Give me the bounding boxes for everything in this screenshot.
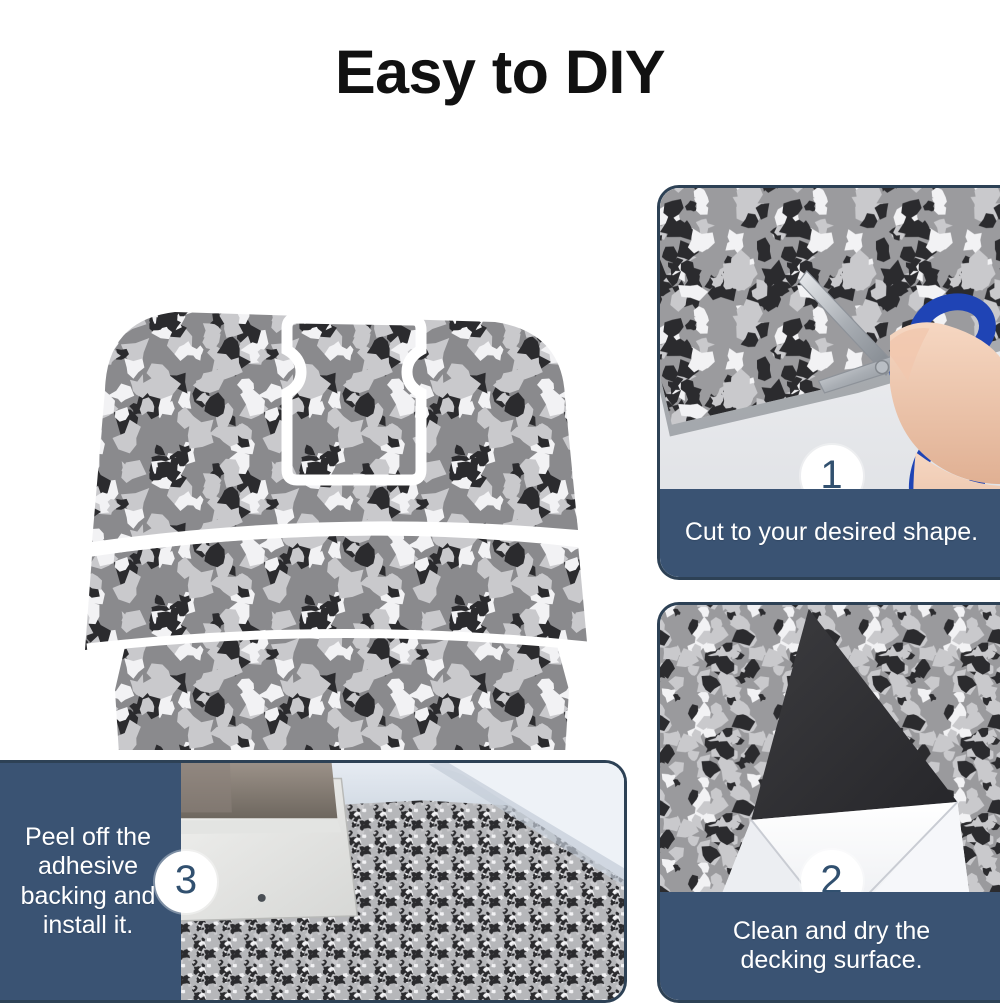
boat-seat-cushion [174,763,337,818]
step-2-caption-line-2: decking surface. [740,946,922,974]
step-3-caption-line-1: Peel off the [25,823,151,851]
step-panel-2: 2 Clean and dry the decking surface. [657,602,1000,1003]
hero-lower-panel [115,638,569,750]
step-2-caption-bar: Clean and dry the decking surface. [660,892,1000,1000]
step-3-caption-line-4: install it. [43,911,133,939]
step-3-caption-line-2: adhesive [38,852,138,880]
step-1-caption-text: Cut to your desired shape. [675,518,988,548]
step-2-caption-line-1: Clean and dry the [733,917,930,945]
page-title: Easy to DIY [0,40,1000,104]
step-3-badge: 3 [155,851,217,913]
step-3-caption-bar: Peel off the adhesive backing and instal… [0,763,181,1000]
hero-upper-panel [92,312,578,542]
hero-product-image [35,150,635,750]
step-panel-3: Peel off the adhesive backing and instal… [0,760,627,1003]
step-3-caption-text: Peel off the adhesive backing and instal… [11,823,166,941]
infographic-page: Easy to DIY [0,0,1000,1000]
step-3-caption-line-3: backing and [21,882,156,910]
step-panel-1: 1 Cut to your desired shape. [657,185,1000,580]
step-2-caption-text: Clean and dry the decking surface. [723,917,940,976]
step-1-caption-bar: Cut to your desired shape. [660,489,1000,577]
